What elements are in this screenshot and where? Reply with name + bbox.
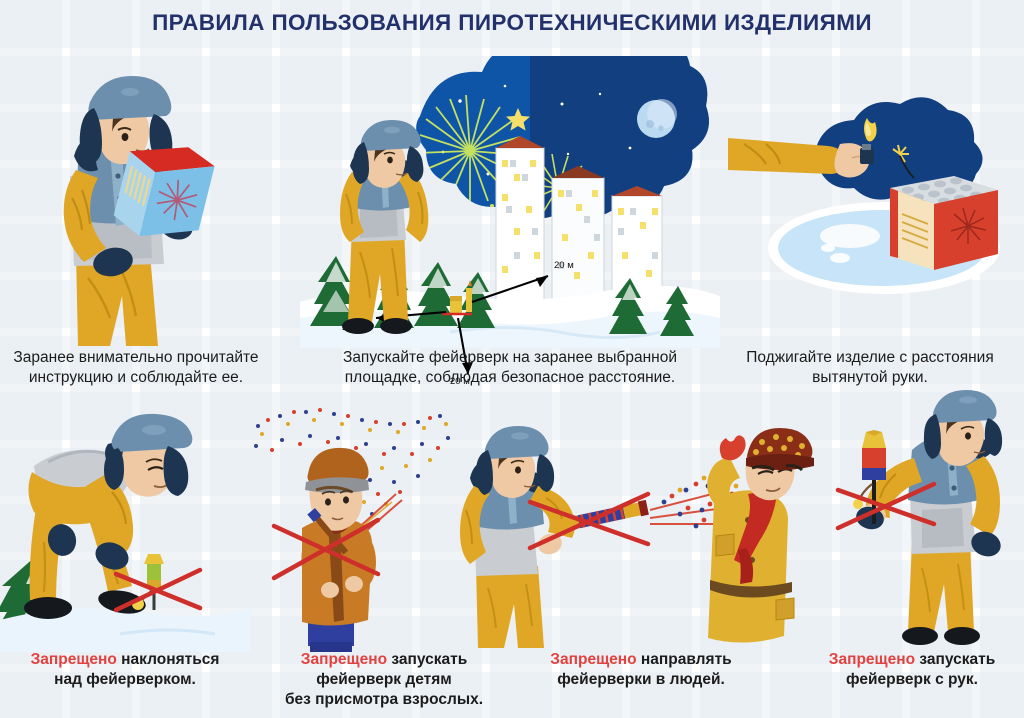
ban-word: Запрещено	[550, 651, 636, 668]
caption-no-children: Запрещено запускать фейерверк детям без …	[256, 650, 512, 710]
ban-word: Запрещено	[829, 651, 915, 668]
illustration-read-instructions	[18, 58, 228, 348]
caption-no-aiming-at-people: Запрещено направлять фейерверки в людей.	[516, 650, 766, 690]
caption-read-instructions: Заранее внимательно прочитайте инструкци…	[0, 348, 286, 388]
caption-line-2: фейерверк с рук.	[846, 671, 978, 688]
illustration-no-bending-over	[0, 408, 250, 652]
caption-line-1-rest: наклоняться	[117, 651, 220, 668]
caption-line-1-rest: направлять	[637, 651, 732, 668]
ban-word: Запрещено	[31, 651, 117, 668]
caption-line-1: Запускайте фейерверк на заранее выбранно…	[343, 349, 677, 366]
caption-line-2: инструкцию и соблюдайте ее.	[29, 369, 243, 386]
caption-line-3: без присмотра взрослых.	[285, 691, 483, 708]
caption-line-1-rest: запускать	[387, 651, 467, 668]
caption-line-2: вытянутой руки.	[812, 369, 928, 386]
caption-line-2: фейерверк детям	[316, 671, 451, 688]
illustration-no-aiming-at-people	[452, 428, 814, 652]
caption-line-1-rest: запускать	[915, 651, 995, 668]
caption-line-2: площадке, соблюдая безопасное расстояние…	[345, 369, 676, 386]
poster-canvas: ПРАВИЛА ПОЛЬЗОВАНИЯ ПИРОТЕХНИЧЕСКИМИ ИЗД…	[0, 0, 1024, 718]
caption-line-2: над фейерверком.	[54, 671, 196, 688]
ban-word: Запрещено	[301, 651, 387, 668]
caption-safe-launch-site: Запускайте фейерверк на заранее выбранно…	[300, 348, 720, 388]
illustration-no-children	[250, 398, 470, 652]
illustration-no-launch-from-hands	[834, 392, 1024, 652]
page-title: ПРАВИЛА ПОЛЬЗОВАНИЯ ПИРОТЕХНИЧЕСКИМИ ИЗД…	[0, 10, 1024, 36]
illustration-standing-man	[326, 122, 446, 348]
caption-line-1: Заранее внимательно прочитайте	[13, 349, 258, 366]
caption-line-2: фейерверки в людей.	[557, 671, 725, 688]
caption-light-at-arms-length: Поджигайте изделие с расстояния вытянуто…	[716, 348, 1024, 388]
caption-line-1: Поджигайте изделие с расстояния	[746, 349, 994, 366]
distance-label-right: 20 м	[554, 260, 574, 271]
caption-no-bending-over: Запрещено наклоняться над фейерверком.	[0, 650, 256, 690]
caption-no-launch-from-hands: Запрещено запускать фейерверк с рук.	[800, 650, 1024, 690]
illustration-light-at-arms-length	[732, 96, 1020, 348]
